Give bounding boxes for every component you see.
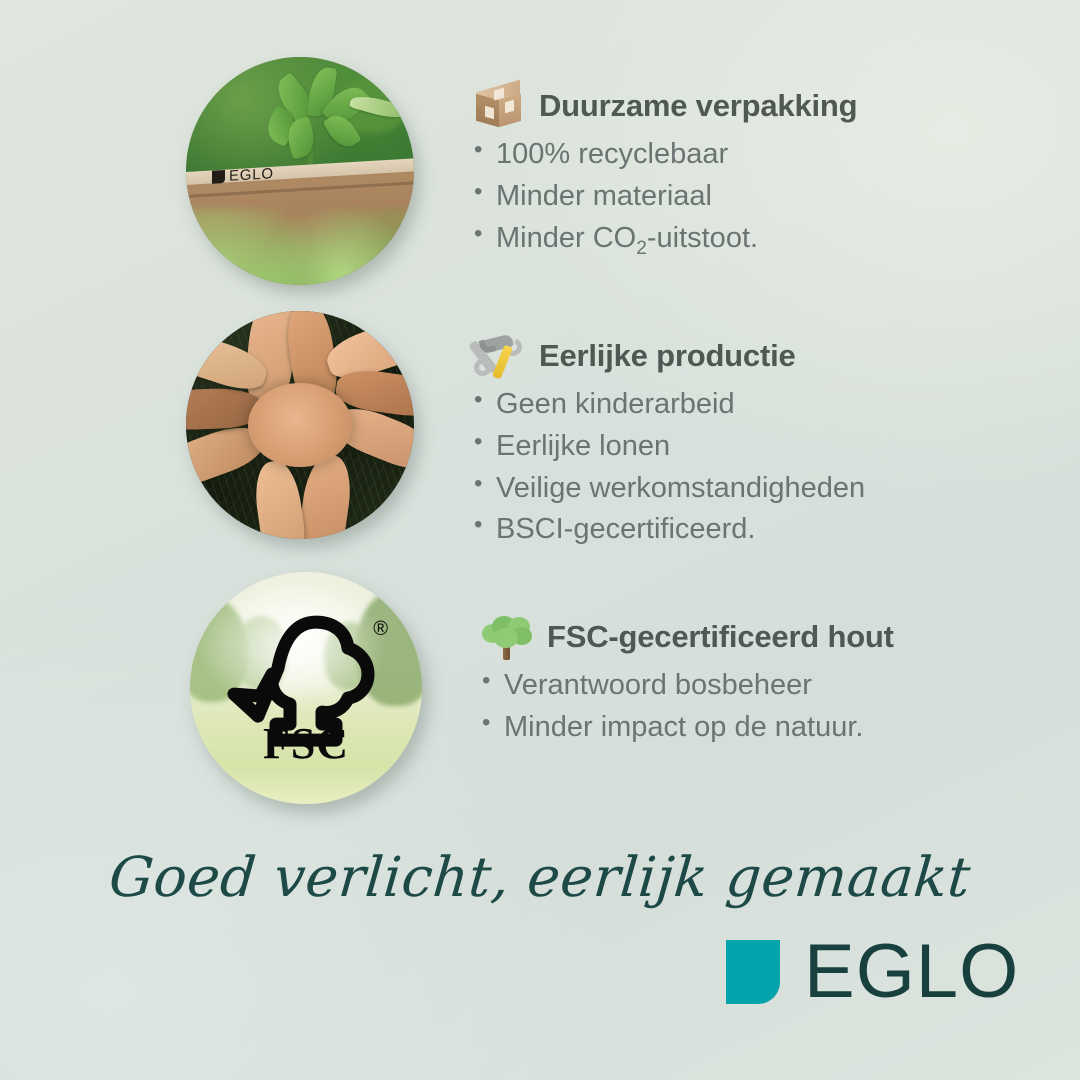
- bullet-item: 100% recyclebaar: [472, 134, 857, 176]
- box-eglo-logo: EGLO: [212, 165, 274, 186]
- bullet-item: Geen kinderarbeid: [472, 384, 865, 426]
- feature-bullet-list: Geen kinderarbeid Eerlijke lonen Veilige…: [472, 384, 865, 551]
- feature-heading: FSC-gecertificeerd hout: [480, 614, 894, 660]
- feature-title: Duurzame verpakking: [539, 88, 857, 124]
- tagline: Goed verlicht, eerlijk gemaakt: [0, 845, 1080, 909]
- bullet-item: Minder impact op de natuur.: [480, 707, 894, 749]
- deciduous-tree-icon: [480, 614, 534, 660]
- sustainability-poster: EGLO Duurzame verpakking 100% recyclebaa…: [0, 0, 1080, 1080]
- bullet-item: Minder CO2-uitstoot.: [472, 218, 857, 262]
- bullet-item: Minder materiaal: [472, 176, 857, 218]
- eglo-mark-icon: [726, 940, 780, 1004]
- bullet-item: Verantwoord bosbeheer: [480, 665, 894, 707]
- feature-text-production: Eerlijke productie Geen kinderarbeid Eer…: [472, 311, 865, 551]
- hammer-and-wrench-icon: [472, 333, 526, 379]
- fair-production-photo: [186, 311, 414, 539]
- hands-center-cluster: [248, 383, 352, 467]
- feature-bullet-list: Verantwoord bosbeheer Minder impact op d…: [480, 665, 894, 749]
- bullet-item: BSCI-gecertificeerd.: [472, 509, 865, 551]
- bullet-item: Veilige werkomstandigheden: [472, 468, 865, 510]
- box-logo-text: EGLO: [229, 165, 274, 185]
- co2-subscript: 2: [636, 237, 647, 258]
- feature-row-production: Eerlijke productie Geen kinderarbeid Eer…: [186, 311, 865, 551]
- feature-heading: Duurzame verpakking: [472, 83, 857, 129]
- feature-row-packaging: EGLO Duurzame verpakking 100% recyclebaa…: [186, 57, 857, 285]
- registered-trademark-icon: ®: [373, 618, 388, 641]
- feature-text-packaging: Duurzame verpakking 100% recyclebaar Min…: [472, 57, 857, 262]
- eglo-mark-icon: [212, 170, 225, 184]
- feature-row-fsc: ® FSC FSC-gecertificeerd hout Ver: [190, 572, 894, 804]
- bullet-item: Eerlijke lonen: [472, 426, 865, 468]
- eglo-brand-logo: EGLO: [726, 938, 1019, 1006]
- feature-heading: Eerlijke productie: [472, 333, 865, 379]
- feature-title: FSC-gecertificeerd hout: [547, 619, 894, 655]
- sustainable-packaging-photo: EGLO: [186, 57, 414, 285]
- feature-bullet-list: 100% recyclebaar Minder materiaal Minder…: [472, 134, 857, 262]
- blurred-foreground-foliage: [186, 209, 414, 285]
- fsc-wordmark: FSC: [263, 722, 349, 766]
- feature-text-fsc: FSC-gecertificeerd hout Verantwoord bosb…: [480, 572, 894, 749]
- feature-title: Eerlijke productie: [539, 338, 796, 374]
- brand-name: EGLO: [804, 938, 1019, 1006]
- package-icon: [472, 83, 526, 129]
- fsc-certified-wood-photo: ® FSC: [190, 572, 422, 804]
